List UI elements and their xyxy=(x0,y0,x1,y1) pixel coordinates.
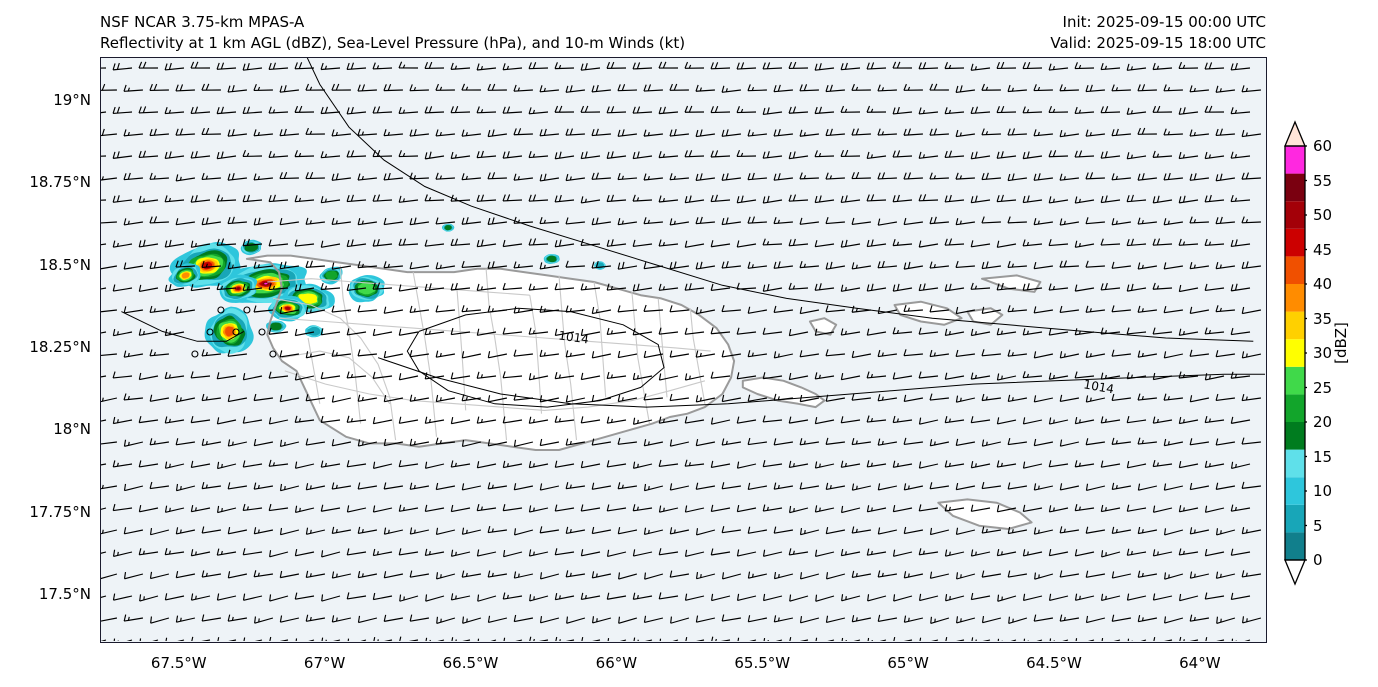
y-tick-18.5°N: 18.5°N xyxy=(39,256,91,274)
x-tick-67.5°W: 67.5°W xyxy=(151,654,207,672)
colorbar-tick-10: 10 xyxy=(1313,482,1332,500)
colorbar-arrow-top xyxy=(1285,122,1305,146)
colorbar-tick-45: 45 xyxy=(1313,241,1332,259)
x-tick-65.5°W: 65.5°W xyxy=(734,654,790,672)
y-tick-18°N: 18°N xyxy=(53,420,91,438)
y-tick-18.25°N: 18.25°N xyxy=(29,338,91,356)
x-tick-64°W: 64°W xyxy=(1179,654,1220,672)
colorbar-band xyxy=(1285,394,1305,422)
colorbar-band xyxy=(1285,201,1305,229)
colorbar-band xyxy=(1285,256,1305,284)
colorbar-band xyxy=(1285,505,1305,533)
x-tick-65°W: 65°W xyxy=(887,654,928,672)
colorbar-band xyxy=(1285,532,1305,560)
x-tick-64.5°W: 64.5°W xyxy=(1026,654,1082,672)
header-field-description: Reflectivity at 1 km AGL (dBZ), Sea-Leve… xyxy=(100,33,685,54)
map-canvas: 10141014 xyxy=(101,58,1265,641)
y-tick-17.5°N: 17.5°N xyxy=(39,585,91,603)
x-tick-67°W: 67°W xyxy=(304,654,345,672)
colorbar-band xyxy=(1285,174,1305,202)
colorbar-tick-60: 60 xyxy=(1313,137,1332,155)
colorbar-tick-0: 0 xyxy=(1313,551,1323,569)
colorbar-axis-label: [dBZ] xyxy=(1332,322,1350,364)
map-plot-area[interactable]: 10141014 xyxy=(100,57,1267,643)
colorbar-band xyxy=(1285,284,1305,312)
y-tick-19°N: 19°N xyxy=(53,91,91,109)
colorbar-band xyxy=(1285,367,1305,395)
header-time-info: Init: 2025-09-15 00:00 UTC Valid: 2025-0… xyxy=(1050,12,1266,54)
x-tick-66°W: 66°W xyxy=(596,654,637,672)
colorbar-tick-5: 5 xyxy=(1313,517,1323,535)
colorbar-tick-35: 35 xyxy=(1313,310,1332,328)
x-tick-66.5°W: 66.5°W xyxy=(443,654,499,672)
colorbar-gradient xyxy=(1283,118,1307,588)
reflectivity-contour xyxy=(225,327,233,337)
colorbar-band xyxy=(1285,422,1305,450)
colorbar-band xyxy=(1285,312,1305,340)
colorbar-arrow-bottom xyxy=(1285,560,1305,584)
colorbar-tick-55: 55 xyxy=(1313,172,1332,190)
colorbar-tick-30: 30 xyxy=(1313,344,1332,362)
colorbar-band xyxy=(1285,339,1305,367)
header-model-name: NSF NCAR 3.75-km MPAS-A xyxy=(100,12,685,33)
colorbar-tick-20: 20 xyxy=(1313,413,1332,431)
reflectivity-contour xyxy=(270,323,281,331)
colorbar-tick-25: 25 xyxy=(1313,379,1332,397)
y-tick-18.75°N: 18.75°N xyxy=(29,173,91,191)
colorbar-band xyxy=(1285,450,1305,478)
header-model-info: NSF NCAR 3.75-km MPAS-A Reflectivity at … xyxy=(100,12,685,54)
colorbar-band xyxy=(1285,477,1305,505)
header-init-time: Init: 2025-09-15 00:00 UTC xyxy=(1050,12,1266,33)
colorbar-tick-15: 15 xyxy=(1313,448,1332,466)
colorbar-band xyxy=(1285,229,1305,257)
colorbar-tick-40: 40 xyxy=(1313,275,1332,293)
colorbar-band xyxy=(1285,146,1305,174)
y-tick-17.75°N: 17.75°N xyxy=(29,503,91,521)
header-valid-time: Valid: 2025-09-15 18:00 UTC xyxy=(1050,33,1266,54)
colorbar-tick-50: 50 xyxy=(1313,206,1332,224)
colorbar[interactable] xyxy=(1283,118,1307,588)
